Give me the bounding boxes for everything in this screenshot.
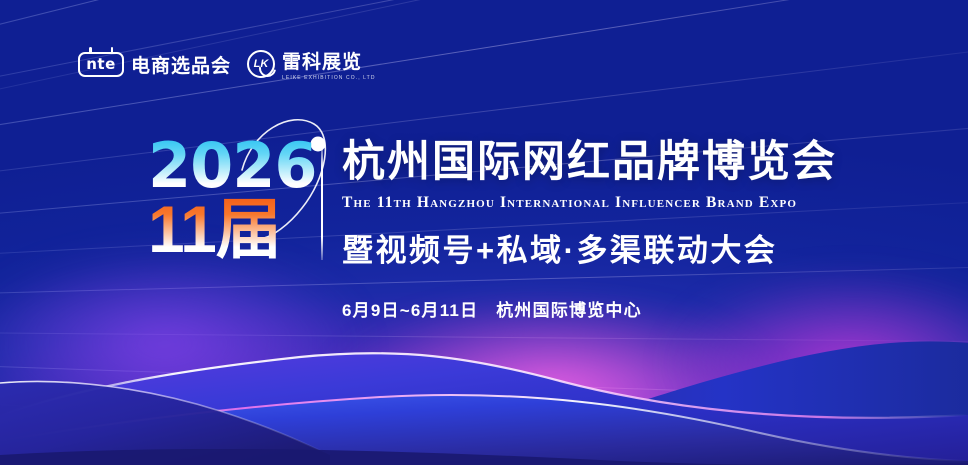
lk-mark-text: LK [254, 58, 269, 70]
subtitle-english: The 11th Hangzhou International Influenc… [342, 194, 837, 212]
event-venue: 杭州国际博览中心 [496, 301, 642, 320]
logo-nte-label: 电商选品会 [131, 51, 231, 78]
logo-leike-sublabel: LEIKE EXHIBITION CO., LTD [282, 75, 376, 81]
subtitle-chinese: 暨视频号+私域·多渠联动大会 [342, 225, 837, 270]
year-edition-block: 2026 11届 [148, 137, 317, 261]
lk-circle-icon: LK [247, 50, 275, 78]
logo-leike[interactable]: LK 雷科展览 LEIKE EXHIBITION CO., LTD [247, 47, 376, 81]
headline-block: 杭州国际网红品牌博览会 The 11th Hangzhou Internatio… [342, 140, 837, 321]
vertical-divider [321, 146, 323, 260]
logo-group: nte 电商选品会 LK 雷科展览 LEIKE EXHIBITION CO., … [78, 47, 376, 81]
edition-label: 11届 [148, 198, 317, 261]
event-meta: 6月9日~6月11日 杭州国际博览中心 [342, 296, 837, 321]
nte-mark-text: nte [86, 57, 116, 72]
page-title: 杭州国际网红品牌博览会 [342, 140, 837, 185]
year-label: 2026 [148, 137, 317, 194]
logo-leike-text-stack: 雷科展览 LEIKE EXHIBITION CO., LTD [282, 47, 376, 81]
logo-leike-label: 雷科展览 [282, 47, 376, 74]
event-date: 6月9日~6月11日 [342, 301, 478, 320]
nte-badge-icon: nte [78, 52, 124, 77]
expo-promo-banner: nte 电商选品会 LK 雷科展览 LEIKE EXHIBITION CO., … [0, 0, 968, 465]
logo-nte[interactable]: nte 电商选品会 [78, 51, 231, 78]
